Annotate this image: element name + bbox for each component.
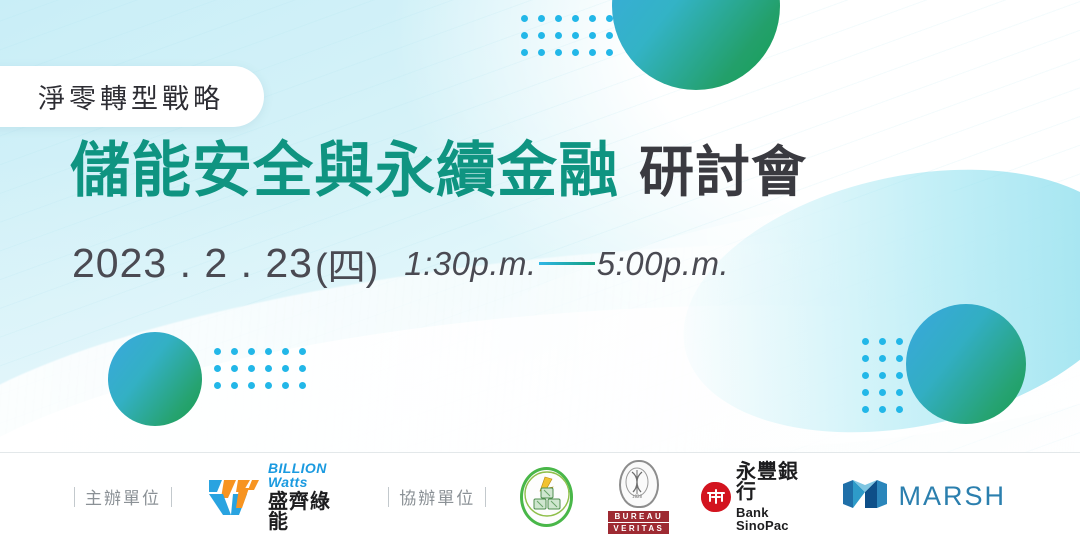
dot <box>862 338 869 345</box>
billion-watts-zh: 盛齊綠能 <box>268 492 351 532</box>
dot <box>606 15 613 22</box>
event-end-time: 5:00p.m. <box>597 245 729 283</box>
dot <box>879 338 886 345</box>
svg-text:1828: 1828 <box>632 494 643 499</box>
sponsor-footer: 主辦單位 BILLION Watts <box>0 452 1080 540</box>
dot <box>231 348 238 355</box>
dot <box>589 15 596 22</box>
page-title-main: 儲能安全與永續金融 <box>70 141 619 201</box>
dot <box>606 49 613 56</box>
dot <box>862 372 869 379</box>
gradient-circle-right <box>906 304 1026 424</box>
dot <box>248 365 255 372</box>
marsh-wordmark: MARSH <box>898 481 1006 512</box>
dot <box>879 355 886 362</box>
dot <box>896 389 903 396</box>
dot <box>572 32 579 39</box>
coorganizer-label-group: 協辦單位 <box>388 484 486 509</box>
page-title-sub: 研討會 <box>639 145 807 200</box>
billion-watts-en: BILLION Watts <box>268 461 351 489</box>
logo-bureau-veritas: 1828 BUREAU VERITAS <box>608 460 669 534</box>
dot-grid-top <box>521 15 623 66</box>
dot-grid-right <box>862 338 913 423</box>
dot <box>265 348 272 355</box>
dot <box>896 372 903 379</box>
dot <box>589 32 596 39</box>
bank-sinopac-wordmark: 永豐銀行 Bank SinoPac <box>736 462 814 532</box>
event-datetime: 2023 . 2 . 23 (四) 1:30p.m. 5:00p.m. <box>72 236 729 291</box>
dot <box>248 382 255 389</box>
dot <box>214 348 221 355</box>
dot <box>555 49 562 56</box>
dot <box>282 348 289 355</box>
dot <box>555 32 562 39</box>
dot <box>299 348 306 355</box>
bank-sinopac-zh: 永豐銀行 <box>736 462 814 502</box>
event-weekday: (四) <box>315 236 378 291</box>
organizer-label-group: 主辦單位 <box>74 484 172 509</box>
event-banner: 淨零轉型戰略 儲能安全與永續金融 研討會 2023 . 2 . 23 (四) 1… <box>0 0 1080 540</box>
dot <box>299 365 306 372</box>
dot <box>248 348 255 355</box>
logo-bank-sinopac: 永豐銀行 Bank SinoPac <box>701 462 814 532</box>
strategy-badge-label: 淨零轉型戰略 <box>38 77 224 116</box>
dot <box>214 365 221 372</box>
bureau-veritas-line2: VERITAS <box>608 523 669 534</box>
event-start-time: 1:30p.m. <box>404 245 536 283</box>
divider-bar-icon <box>171 487 172 507</box>
dot <box>538 49 545 56</box>
logo-billion-watts: BILLION Watts 盛齊綠能 <box>209 461 351 532</box>
dot <box>538 32 545 39</box>
marsh-mark-icon <box>843 480 887 513</box>
dot <box>538 15 545 22</box>
dot <box>606 32 613 39</box>
dot <box>231 365 238 372</box>
dot <box>879 372 886 379</box>
dot <box>896 338 903 345</box>
bank-sinopac-mark-icon <box>701 482 727 512</box>
dot <box>896 406 903 413</box>
bank-sinopac-en: Bank SinoPac <box>736 506 814 532</box>
dot <box>231 382 238 389</box>
dot <box>589 49 596 56</box>
dot <box>862 389 869 396</box>
dot <box>521 49 528 56</box>
organizer-label: 主辦單位 <box>85 484 161 509</box>
dot <box>265 382 272 389</box>
logo-green-energy-association <box>520 467 573 527</box>
dot <box>299 382 306 389</box>
dot <box>879 389 886 396</box>
dot <box>572 15 579 22</box>
dot-grid-left <box>214 348 316 399</box>
billion-watts-mark-icon <box>209 478 259 516</box>
dot <box>896 355 903 362</box>
bureau-veritas-line1: BUREAU <box>608 511 669 522</box>
bureau-veritas-wordmark: BUREAU VERITAS <box>608 511 669 534</box>
dot <box>282 365 289 372</box>
page-title: 儲能安全與永續金融 研討會 <box>70 141 807 201</box>
divider-bar-icon <box>74 487 75 507</box>
dot <box>572 49 579 56</box>
time-range-dash <box>539 262 595 265</box>
dot <box>265 365 272 372</box>
dot <box>555 15 562 22</box>
bureau-veritas-crest-icon: 1828 <box>619 460 659 508</box>
logo-marsh: MARSH <box>843 480 1006 513</box>
divider-bar-icon <box>388 487 389 507</box>
dot <box>879 406 886 413</box>
event-date: 2023 . 2 . 23 <box>72 240 313 287</box>
dot <box>862 355 869 362</box>
strategy-badge: 淨零轉型戰略 <box>0 66 264 127</box>
billion-watts-wordmark: BILLION Watts 盛齊綠能 <box>268 461 351 532</box>
dot <box>282 382 289 389</box>
dot <box>862 406 869 413</box>
dot <box>521 32 528 39</box>
divider-bar-icon <box>485 487 486 507</box>
coorganizer-label: 協辦單位 <box>399 484 475 509</box>
dot <box>521 15 528 22</box>
gradient-circle-left <box>108 332 202 426</box>
dot <box>214 382 221 389</box>
